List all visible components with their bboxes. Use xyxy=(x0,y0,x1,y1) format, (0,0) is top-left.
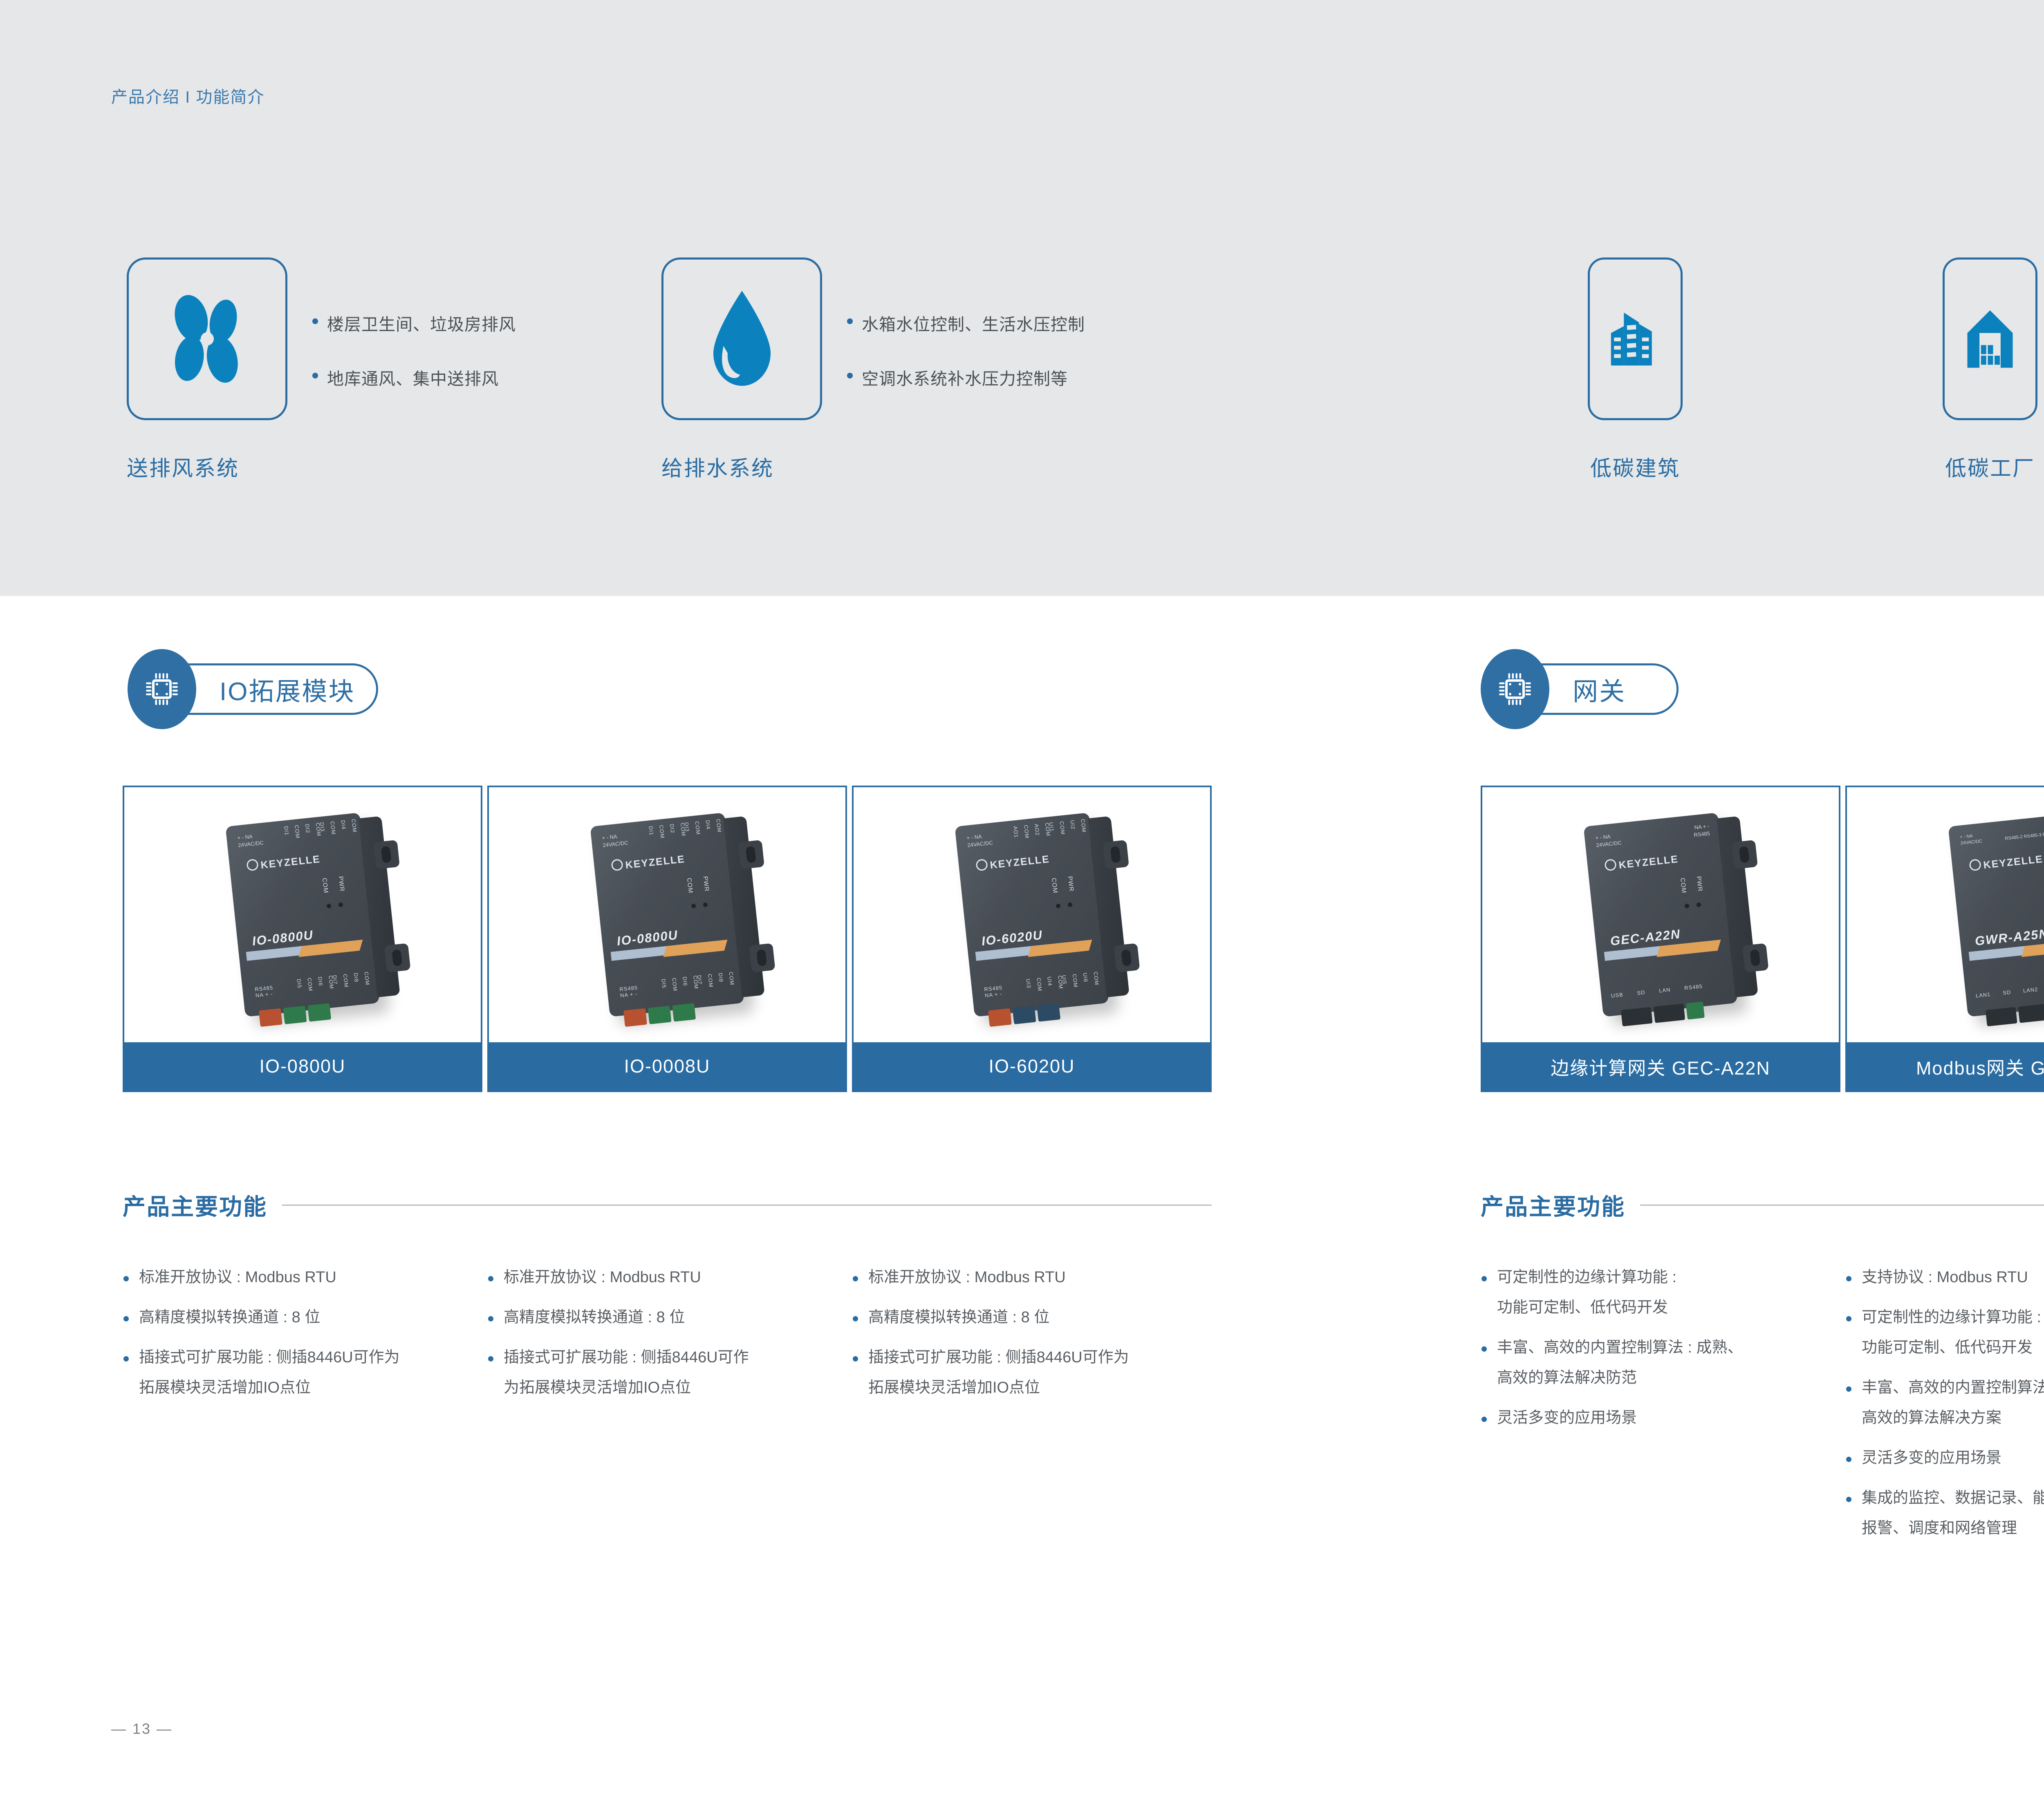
running-head-left: 产品介绍 I 功能简介 xyxy=(111,84,264,107)
device-illustration: + - NA 24VAC/DC + - + - + - + - RS485-2 … xyxy=(1948,813,2044,1017)
device-brand: KEYZELLE xyxy=(975,852,1050,873)
product-image: + - NA 24VAC/DC DI1 COM DI2 COM DI3 COM … xyxy=(124,787,481,1042)
product-image: + - NA 24VAC/DC + - + - + - + - RS485-2 … xyxy=(1847,787,2044,1042)
device-illustration: + - NA 24VAC/DC AO1 COM AO2 COM UI1 COM … xyxy=(955,813,1109,1017)
features-heading-left: 产品主要功能 xyxy=(123,1189,1212,1222)
feature-column: 标准开放协议 : Modbus RTU 高精度模拟转换通道 : 8 位 插接式可… xyxy=(852,1270,1212,1420)
device-brand: KEYZELLE xyxy=(1604,852,1679,873)
list-item: 可定制性的边缘计算功能 :功能可定制、低代码开发 xyxy=(1845,1310,2044,1355)
led-label-com: COM xyxy=(1050,878,1059,894)
product-caption: 边缘计算网关 GEC-A22N xyxy=(1551,1053,1771,1080)
led-label-pwr: PWR xyxy=(1067,876,1075,892)
list-item: 灵活多变的应用场景 xyxy=(1481,1410,1832,1426)
system-caption-ventilation: 送排风系统 xyxy=(127,451,287,482)
section-title-gateway: 网关 xyxy=(1573,671,1626,708)
list-item: 高精度模拟转换通道 : 8 位 xyxy=(123,1310,474,1325)
list-item: 楼层卫生间、垃圾房排风 xyxy=(311,311,516,335)
section-header-gateway: 网关 xyxy=(1481,649,1679,729)
product-card[interactable]: + - NA 24VAC/DC NA + - RS485 KEYZELLE CO… xyxy=(1481,786,1840,1092)
feature-column: 可定制性的边缘计算功能 :功能可定制、低代码开发 丰富、高效的内置控制算法 : … xyxy=(1481,1270,1832,1450)
heading-rule xyxy=(282,1205,1212,1206)
list-item: 集成的监控、数据记录、能耗计量、报警、调度和网络管理 xyxy=(1845,1490,2044,1536)
list-item: 插接式可扩展功能 : 侧插8446U可作为拓展模块灵活增加IO点位 xyxy=(123,1350,474,1395)
list-item: 高精度模拟转换通道 : 8 位 xyxy=(487,1310,839,1325)
led-label-pwr: PWR xyxy=(702,876,710,892)
led-label-com: COM xyxy=(1679,878,1688,894)
chip-icon xyxy=(1495,669,1535,709)
system-block-water: 给排水系统 xyxy=(661,257,822,482)
led-label-com: COM xyxy=(686,878,694,894)
device-power-label: + - NA 24VAC/DC xyxy=(237,832,264,849)
device-brand: KEYZELLE xyxy=(611,852,686,873)
product-caption-bar: Modbus网关 GWR-A25N xyxy=(1847,1042,2044,1090)
list-item: 丰富、高效的内置控制算法 : 成熟、高效的算法解决方案 xyxy=(1845,1380,2044,1426)
office-buildings-icon xyxy=(1605,301,1666,377)
product-caption: IO-0008U xyxy=(624,1056,710,1077)
list-item: 可定制性的边缘计算功能 :功能可定制、低代码开发 xyxy=(1481,1270,1832,1315)
section-title-io-modules: IO拓展模块 xyxy=(220,671,355,708)
list-item: 标准开放协议 : Modbus RTU xyxy=(123,1270,474,1285)
product-caption-bar: IO-6020U xyxy=(854,1042,1210,1090)
product-caption-bar: IO-0800U xyxy=(124,1042,481,1090)
water-drop-icon xyxy=(705,288,779,390)
led-label-pwr: PWR xyxy=(337,876,346,892)
list-item: 地库通风、集中送排风 xyxy=(311,365,516,390)
list-item: 插接式可扩展功能 : 侧插8446U可作为拓展模块灵活增加IO点位 xyxy=(487,1350,839,1395)
product-caption: Modbus网关 GWR-A25N xyxy=(1916,1053,2044,1080)
scene-caption-building: 低碳建筑 xyxy=(1588,451,1683,482)
feature-column: 标准开放协议 : Modbus RTU 高精度模拟转换通道 : 8 位 插接式可… xyxy=(487,1270,839,1420)
list-item: 支持协议 : Modbus RTU xyxy=(1845,1270,2044,1285)
scene-block-building: 低碳建筑 xyxy=(1588,257,1683,482)
device-illustration: + - NA 24VAC/DC DI1 COM DI2 COM DI3 COM … xyxy=(225,813,379,1017)
feature-column: 支持协议 : Modbus RTU 可定制性的边缘计算功能 :功能可定制、低代码… xyxy=(1845,1270,2044,1561)
top-gray-band xyxy=(0,0,2044,596)
feature-column: 标准开放协议 : Modbus RTU 高精度模拟转换通道 : 8 位 插接式可… xyxy=(123,1270,474,1420)
office-buildings-icon-frame xyxy=(1588,257,1683,420)
heading-rule xyxy=(1640,1205,2044,1206)
list-item: 标准开放协议 : Modbus RTU xyxy=(852,1270,1212,1285)
list-item: 标准开放协议 : Modbus RTU xyxy=(487,1270,839,1285)
device-brand: KEYZELLE xyxy=(1969,852,2044,873)
ventilation-bullets: 楼层卫生间、垃圾房排风 地库通风、集中送排风 xyxy=(311,311,516,419)
product-card[interactable]: + - NA 24VAC/DC DI1 COM DI2 COM DI3 COM … xyxy=(487,786,847,1092)
list-item: 插接式可扩展功能 : 侧插8446U可作为拓展模块灵活增加IO点位 xyxy=(852,1350,1212,1395)
product-image: + - NA 24VAC/DC NA + - RS485 KEYZELLE CO… xyxy=(1482,787,1839,1042)
factory-icon-frame xyxy=(1943,257,2037,420)
system-caption-water: 给排水系统 xyxy=(661,451,822,482)
list-item: 灵活多变的应用场景 xyxy=(1845,1450,2044,1466)
chip-icon xyxy=(142,669,182,709)
list-item: 空调水系统补水压力控制等 xyxy=(845,365,1085,390)
scene-caption-factory: 低碳工厂 xyxy=(1943,451,2037,482)
water-bullets: 水箱水位控制、生活水压控制 空调水系统补水压力控制等 xyxy=(845,311,1085,419)
product-image: + - NA 24VAC/DC AO1 COM AO2 COM UI1 COM … xyxy=(854,787,1210,1042)
water-drop-icon-frame xyxy=(661,257,822,420)
section-header-io-modules: IO拓展模块 xyxy=(128,649,378,729)
product-caption: IO-6020U xyxy=(988,1056,1075,1077)
device-brand: KEYZELLE xyxy=(246,852,321,873)
fan-icon-frame xyxy=(127,257,287,420)
features-heading-right: 产品主要功能 xyxy=(1481,1189,2044,1222)
list-item: 高精度模拟转换通道 : 8 位 xyxy=(852,1310,1212,1325)
factory-icon xyxy=(1959,301,2021,377)
page-number-left: — 13 — xyxy=(111,1720,173,1738)
chip-icon-badge xyxy=(1481,649,1549,729)
product-caption-bar: 边缘计算网关 GEC-A22N xyxy=(1482,1042,1839,1090)
system-block-ventilation: 送排风系统 xyxy=(127,257,287,482)
product-caption: IO-0800U xyxy=(259,1056,345,1077)
product-card[interactable]: + - NA 24VAC/DC DI1 COM DI2 COM DI3 COM … xyxy=(123,786,482,1092)
fan-icon xyxy=(160,290,254,388)
device-illustration: + - NA 24VAC/DC DI1 COM DI2 COM DI3 COM … xyxy=(590,813,744,1017)
led-label-pwr: PWR xyxy=(1695,876,1704,892)
product-image: + - NA 24VAC/DC DI1 COM DI2 COM DI3 COM … xyxy=(489,787,845,1042)
led-label-com: COM xyxy=(321,878,329,894)
product-card[interactable]: + - NA 24VAC/DC + - + - + - + - RS485-2 … xyxy=(1845,786,2044,1092)
device-illustration: + - NA 24VAC/DC NA + - RS485 KEYZELLE CO… xyxy=(1583,813,1737,1017)
scene-block-factory: 低碳工厂 xyxy=(1943,257,2037,482)
chip-icon-badge xyxy=(128,649,196,729)
list-item: 丰富、高效的内置控制算法 : 成熟、高效的算法解决防范 xyxy=(1481,1340,1832,1386)
product-card[interactable]: + - NA 24VAC/DC AO1 COM AO2 COM UI1 COM … xyxy=(852,786,1212,1092)
list-item: 水箱水位控制、生活水压控制 xyxy=(845,311,1085,335)
product-caption-bar: IO-0008U xyxy=(489,1042,845,1090)
